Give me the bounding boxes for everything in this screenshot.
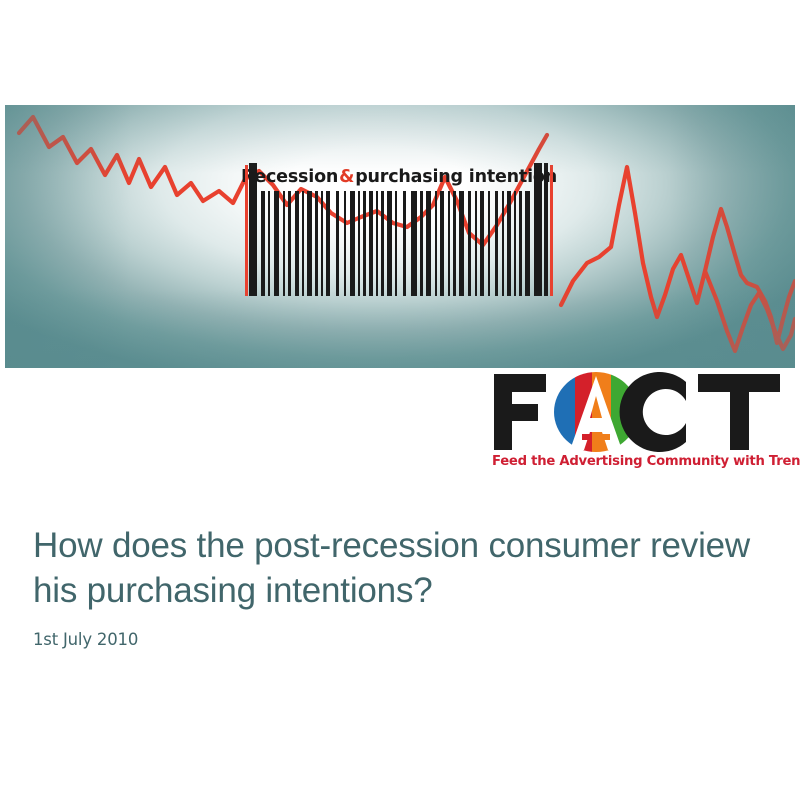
- barcode-bars: [240, 163, 558, 296]
- logo-letter-t: [698, 374, 780, 450]
- hero-banner: Recession & purchasing intention: [5, 105, 795, 368]
- title-block: How does the post-recession consumer rev…: [33, 523, 763, 649]
- logo-letter-f: [494, 374, 546, 450]
- logo-tagline: Feed the Advertising Community with Tren…: [492, 454, 788, 469]
- fact-wordmark: [490, 370, 790, 454]
- barcode-graphic: Recession & purchasing intention: [240, 163, 558, 296]
- page-date: 1st July 2010: [33, 613, 763, 649]
- logo-letter-c: [620, 372, 686, 452]
- fact-logo: Feed the Advertising Community with Tren…: [490, 370, 790, 480]
- trendline-right-segment: [561, 167, 795, 343]
- page-title: How does the post-recession consumer rev…: [33, 523, 763, 613]
